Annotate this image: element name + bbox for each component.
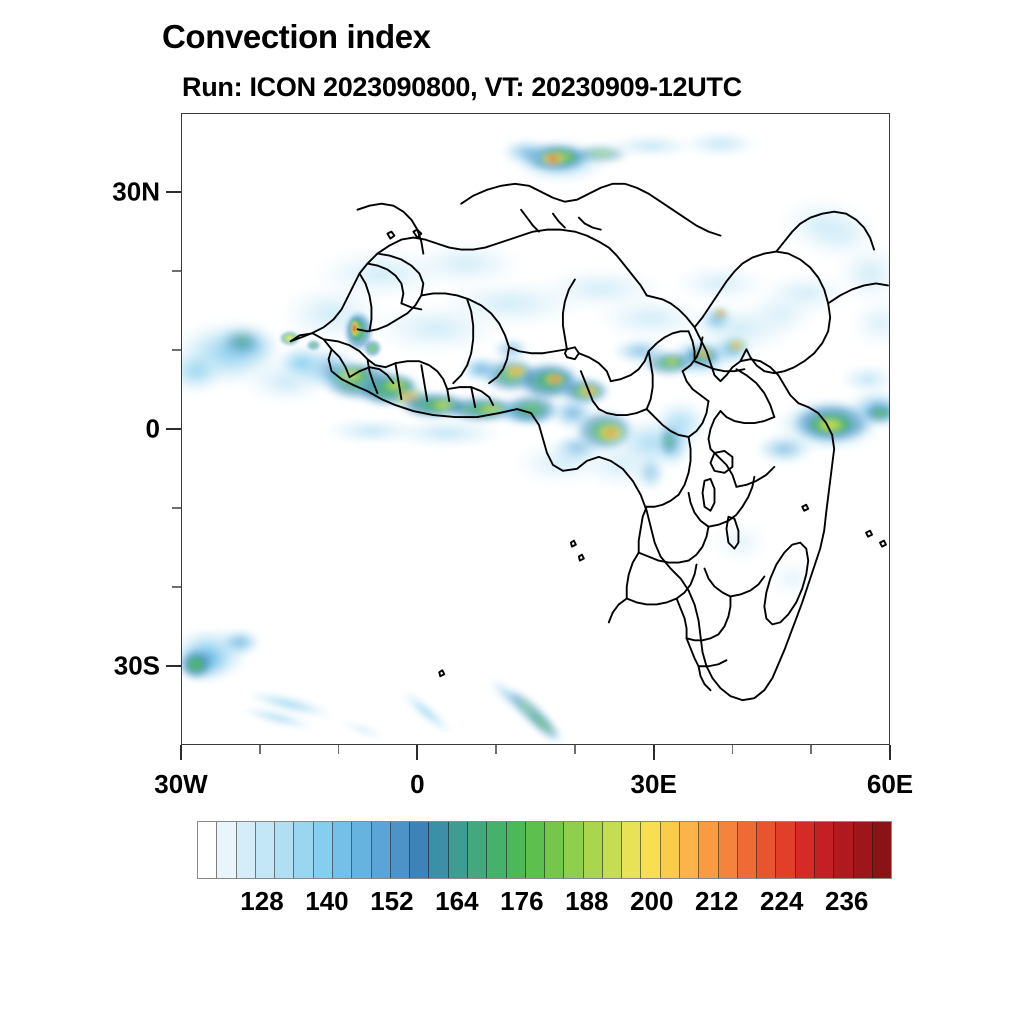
colorbar-tick-label-6: 200 [630,886,673,917]
colorbar-cell-34[interactable] [854,822,873,878]
y-tick-minor-0 [172,270,181,272]
colorbar-tick-label-8: 224 [760,886,803,917]
colorbar-cell-30[interactable] [776,822,795,878]
colorbar-tick-label-1: 140 [305,886,348,917]
x-axis-label-0: 30W [154,769,207,800]
colorbar-cell-8[interactable] [352,822,371,878]
colorbar-tick-label-5: 188 [565,886,608,917]
page-title: Convection index [162,18,431,56]
colorbar-cell-33[interactable] [834,822,853,878]
y-axis-label-1: 0 [60,414,160,445]
colorbar-cell-3[interactable] [256,822,275,878]
colorbar-cell-24[interactable] [661,822,680,878]
x-tick-minor-5 [810,745,812,754]
colorbar-cell-10[interactable] [391,822,410,878]
colorbar-cell-7[interactable] [333,822,352,878]
colorbar-tick-label-2: 152 [370,886,413,917]
x-axis-label-1: 0 [410,769,424,800]
run-valid-time-subtitle: Run: ICON 2023090800, VT: 20230909-12UTC [182,72,742,103]
colorbar-cell-31[interactable] [796,822,815,878]
colorbar-cell-1[interactable] [217,822,236,878]
map-canvas [182,114,889,744]
colorbar-cell-32[interactable] [815,822,834,878]
y-axis-label-2: 30S [60,651,160,682]
y-tick-major-1 [166,428,181,430]
colorbar-cell-29[interactable] [757,822,776,878]
colorbar-cell-4[interactable] [275,822,294,878]
colorbar-cell-12[interactable] [429,822,448,878]
colorbar-cell-19[interactable] [564,822,583,878]
map-plot-area[interactable] [181,113,890,745]
colorbar-cell-0[interactable] [198,822,217,878]
colorbar-cell-16[interactable] [507,822,526,878]
colorbar-cell-14[interactable] [468,822,487,878]
colorbar-cell-21[interactable] [603,822,622,878]
colorbar-tick-label-4: 176 [500,886,543,917]
figure-root: Convection index Run: ICON 2023090800, V… [0,0,1024,1024]
y-tick-major-0 [166,191,181,193]
x-tick-minor-3 [574,745,576,754]
colorbar-cell-13[interactable] [449,822,468,878]
colorbar-cell-20[interactable] [584,822,603,878]
colorbar-cell-23[interactable] [641,822,660,878]
y-tick-major-2 [166,665,181,667]
colorbar-tick-label-0: 128 [240,886,283,917]
colorbar-cell-18[interactable] [545,822,564,878]
colorbar-tick-label-3: 164 [435,886,478,917]
colorbar-cell-27[interactable] [719,822,738,878]
y-tick-minor-1 [172,349,181,351]
colorbar-cell-28[interactable] [738,822,757,878]
x-tick-major-1 [416,745,418,760]
colorbar-cell-22[interactable] [622,822,641,878]
colorbar-cell-5[interactable] [294,822,313,878]
colorbar-cell-35[interactable] [873,822,891,878]
colorbar-cell-9[interactable] [372,822,391,878]
colorbar-cell-2[interactable] [237,822,256,878]
x-tick-major-2 [653,745,655,760]
x-tick-minor-4 [732,745,734,754]
colorbar-tick-label-9: 236 [825,886,868,917]
x-tick-minor-1 [338,745,340,754]
y-tick-minor-3 [172,586,181,588]
colorbar-cell-25[interactable] [680,822,699,878]
x-axis-label-3: 60E [867,769,913,800]
colorbar-tick-label-7: 212 [695,886,738,917]
colorbar-cell-15[interactable] [487,822,506,878]
x-tick-major-0 [180,745,182,760]
y-axis-label-0: 30N [60,177,160,208]
colorbar[interactable] [197,821,892,879]
y-tick-minor-2 [172,507,181,509]
x-tick-minor-2 [495,745,497,754]
x-tick-minor-0 [259,745,261,754]
x-axis-label-2: 30E [631,769,677,800]
colorbar-cell-11[interactable] [410,822,429,878]
colorbar-cell-17[interactable] [526,822,545,878]
colorbar-cell-6[interactable] [314,822,333,878]
colorbar-cell-26[interactable] [699,822,718,878]
x-tick-major-3 [889,745,891,760]
